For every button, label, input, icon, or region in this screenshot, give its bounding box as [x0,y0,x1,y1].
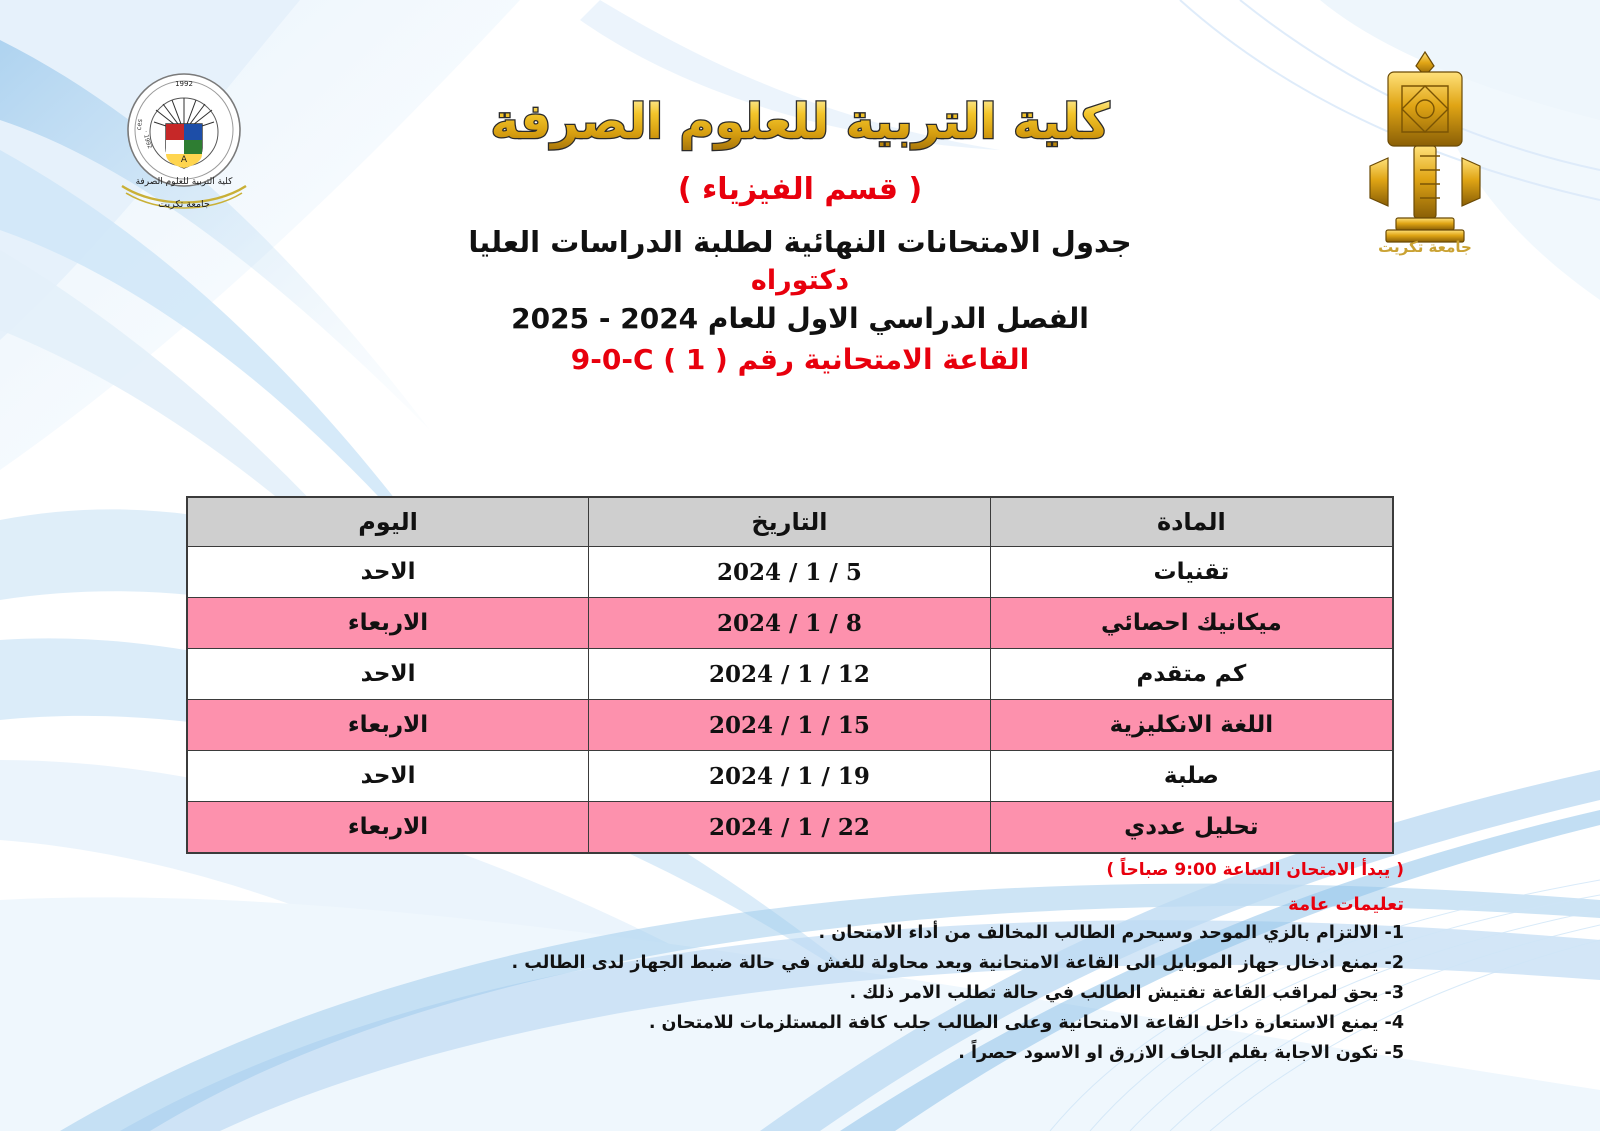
cell-day: الاحد [187,547,589,598]
poster-page: University of Tikrit College of Educatio… [0,0,1600,1131]
cell-day: الاربعاء [187,598,589,649]
cell-day: الاحد [187,751,589,802]
degree-label: دكتوراه [0,265,1600,296]
cell-subject: اللغة الانكليزية [990,700,1393,751]
table-row: اللغة الانكليزية2024 / 1 / 15الاربعاء [187,700,1393,751]
cell-day: الاحد [187,649,589,700]
college-name-calligraphy: كلية التربية للعلوم الصرفة [470,46,1130,166]
exam-hall-line: القاعة الامتحانية رقم ( 1 ) 9-0-C [0,343,1600,376]
exam-schedule-table: المادة التاريخ اليوم تقنيات2024 / 1 / 5ا… [186,496,1394,854]
instruction-item: 5- تكون الاجابة بقلم الجاف الازرق او الا… [224,1043,1404,1065]
cell-date: 2024 / 1 / 15 [589,700,991,751]
instruction-item: 3- يحق لمراقب القاعة تفتيش الطالب في حال… [224,983,1404,1005]
cell-subject: تقنيات [990,547,1393,598]
exam-schedule-table-container: المادة التاريخ اليوم تقنيات2024 / 1 / 5ا… [186,496,1394,854]
instructions-block: ( يبدأ الامتحان الساعة 9:00 صباحاً ) تعل… [224,860,1404,1064]
exam-hall-code: 9-0-C [571,343,654,376]
instruction-item: 2- يمنع ادخال جهاز الموبايل الى القاعة ا… [224,953,1404,975]
exam-hall-label: القاعة الامتحانية رقم ( 1 ) [663,343,1029,376]
department-label: ( قسم الفيزياء ) [0,172,1600,207]
cell-subject: تحليل عددي [990,802,1393,854]
header-block: كلية التربية للعلوم الصرفة ( قسم الفيزيا… [0,46,1600,376]
academic-term: الفصل الدراسي الاول للعام 2024 - 2025 [0,302,1600,335]
instructions-list: 1- الالتزام بالزي الموحد وسيحرم الطالب ا… [224,923,1404,1064]
schedule-title: جدول الامتحانات النهائية لطلبة الدراسات … [0,225,1600,259]
table-row: كم متقدم2024 / 1 / 12الاحد [187,649,1393,700]
cell-date: 2024 / 1 / 19 [589,751,991,802]
instruction-item: 1- الالتزام بالزي الموحد وسيحرم الطالب ا… [224,923,1404,945]
column-header-date: التاريخ [589,497,991,547]
cell-date: 2024 / 1 / 22 [589,802,991,854]
college-name-text: كلية التربية للعلوم الصرفة [491,94,1110,150]
cell-date: 2024 / 1 / 12 [589,649,991,700]
instruction-item: 4- يمنع الاستعارة داخل القاعة الامتحانية… [224,1013,1404,1035]
cell-day: الاربعاء [187,802,589,854]
cell-subject: كم متقدم [990,649,1393,700]
cell-date: 2024 / 1 / 5 [589,547,991,598]
table-header-row: المادة التاريخ اليوم [187,497,1393,547]
instructions-heading: تعليمات عامة [224,894,1404,915]
table-row: ميكانيك احصائي2024 / 1 / 8الاربعاء [187,598,1393,649]
table-body: تقنيات2024 / 1 / 5الاحدميكانيك احصائي202… [187,547,1393,854]
exam-start-time-note: ( يبدأ الامتحان الساعة 9:00 صباحاً ) [224,860,1404,880]
column-header-day: اليوم [187,497,589,547]
cell-date: 2024 / 1 / 8 [589,598,991,649]
table-row: صلبة2024 / 1 / 19الاحد [187,751,1393,802]
cell-subject: صلبة [990,751,1393,802]
table-row: تقنيات2024 / 1 / 5الاحد [187,547,1393,598]
cell-subject: ميكانيك احصائي [990,598,1393,649]
table-row: تحليل عددي2024 / 1 / 22الاربعاء [187,802,1393,854]
cell-day: الاربعاء [187,700,589,751]
column-header-subject: المادة [990,497,1393,547]
